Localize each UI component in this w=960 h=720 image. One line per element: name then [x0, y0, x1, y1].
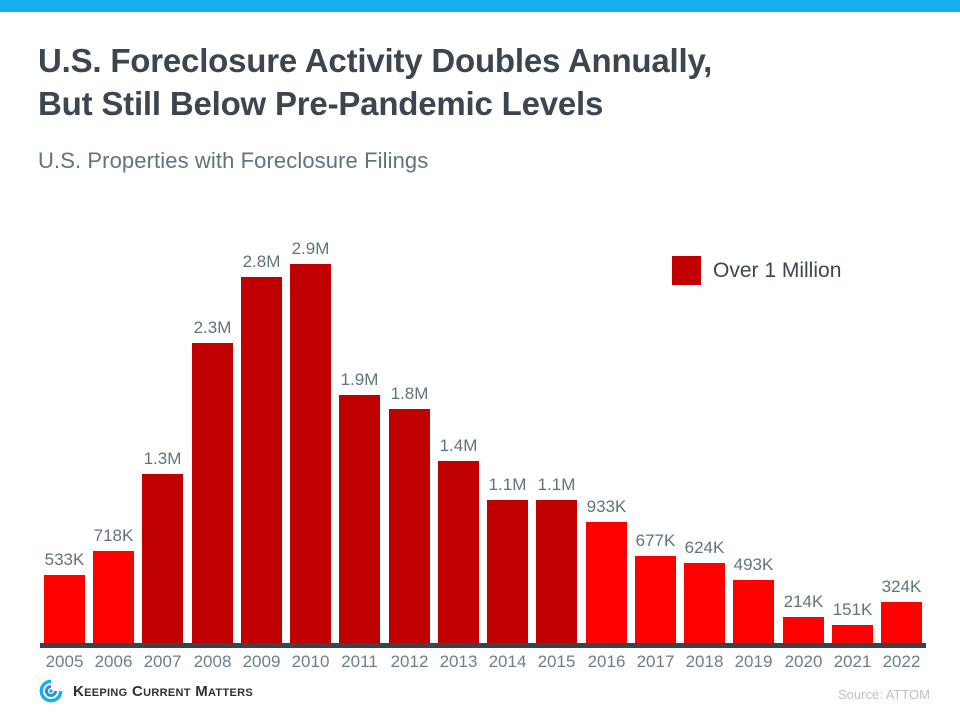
bar-value-label: 214K [784, 592, 824, 612]
x-tick-2009: 2009 [241, 652, 282, 672]
brand-name: Keeping Current Matters [73, 683, 253, 700]
spiral-logo-icon [38, 678, 64, 704]
bar-value-label: 1.1M [538, 475, 576, 495]
x-tick-2006: 2006 [93, 652, 134, 672]
bar-2007[interactable]: 1.3M [142, 220, 183, 645]
bar-rect[interactable] [192, 343, 233, 645]
bar-rect[interactable] [93, 551, 134, 645]
x-tick-2015: 2015 [536, 652, 577, 672]
bar-value-label: 718K [94, 526, 134, 546]
bar-2014[interactable]: 1.1M [487, 220, 528, 645]
bar-value-label: 624K [685, 538, 725, 558]
bar-rect[interactable] [586, 522, 627, 645]
chart-plot-area: 533K718K1.3M2.3M2.8M2.9M1.9M1.8M1.4M1.1M… [44, 220, 922, 645]
bar-rect[interactable] [487, 500, 528, 645]
bar-rect[interactable] [536, 500, 577, 645]
bar-2020[interactable]: 214K [783, 220, 824, 645]
x-tick-2019: 2019 [733, 652, 774, 672]
bar-value-label: 677K [636, 531, 676, 551]
x-tick-2020: 2020 [783, 652, 824, 672]
bar-value-label: 1.9M [341, 370, 379, 390]
bar-2022[interactable]: 324K [881, 220, 922, 645]
bar-rect[interactable] [635, 556, 676, 645]
bar-2018[interactable]: 624K [684, 220, 725, 645]
bar-2006[interactable]: 718K [93, 220, 134, 645]
bar-value-label: 1.8M [391, 384, 429, 404]
bar-2005[interactable]: 533K [44, 220, 85, 645]
bar-value-label: 1.4M [440, 436, 478, 456]
bar-rect[interactable] [733, 580, 774, 645]
bar-value-label: 324K [882, 577, 922, 597]
x-tick-2022: 2022 [881, 652, 922, 672]
bar-2021[interactable]: 151K [832, 220, 873, 645]
bar-2013[interactable]: 1.4M [438, 220, 479, 645]
x-tick-2014: 2014 [487, 652, 528, 672]
bar-value-label: 1.1M [489, 475, 527, 495]
bar-value-label: 151K [833, 600, 873, 620]
bar-rect[interactable] [783, 617, 824, 645]
x-tick-2010: 2010 [290, 652, 331, 672]
bar-rect[interactable] [241, 277, 282, 645]
bar-chart: 533K718K1.3M2.3M2.8M2.9M1.9M1.8M1.4M1.1M… [0, 0, 960, 720]
x-tick-2018: 2018 [684, 652, 725, 672]
x-tick-2013: 2013 [438, 652, 479, 672]
bar-value-label: 533K [45, 550, 85, 570]
x-tick-2017: 2017 [635, 652, 676, 672]
bar-value-label: 2.3M [194, 318, 232, 338]
brand-logo: Keeping Current Matters [38, 678, 253, 704]
x-tick-2021: 2021 [832, 652, 873, 672]
bar-rect[interactable] [881, 602, 922, 645]
x-axis-tick-labels: 2005200620072008200920102011201220132014… [44, 652, 922, 678]
source-attribution: Source: ATTOM [838, 687, 930, 702]
bar-value-label: 493K [734, 555, 774, 575]
bar-2010[interactable]: 2.9M [290, 220, 331, 645]
bar-rect[interactable] [142, 474, 183, 645]
x-tick-2007: 2007 [142, 652, 183, 672]
bar-rect[interactable] [290, 264, 331, 645]
bar-rect[interactable] [44, 575, 85, 645]
x-tick-2011: 2011 [339, 652, 380, 672]
bar-rect[interactable] [832, 625, 873, 645]
bar-2011[interactable]: 1.9M [339, 220, 380, 645]
bar-value-label: 933K [587, 497, 627, 517]
bar-value-label: 1.3M [144, 449, 182, 469]
bar-rect[interactable] [438, 461, 479, 645]
bar-2008[interactable]: 2.3M [192, 220, 233, 645]
x-axis-line [40, 643, 926, 648]
bar-2019[interactable]: 493K [733, 220, 774, 645]
x-tick-2016: 2016 [586, 652, 627, 672]
bar-2012[interactable]: 1.8M [389, 220, 430, 645]
bar-rect[interactable] [684, 563, 725, 645]
bar-2016[interactable]: 933K [586, 220, 627, 645]
x-tick-2012: 2012 [389, 652, 430, 672]
bar-rect[interactable] [339, 395, 380, 645]
x-tick-2008: 2008 [192, 652, 233, 672]
bar-value-label: 2.9M [292, 239, 330, 259]
x-tick-2005: 2005 [44, 652, 85, 672]
bar-2015[interactable]: 1.1M [536, 220, 577, 645]
bar-2017[interactable]: 677K [635, 220, 676, 645]
bar-value-label: 2.8M [243, 252, 281, 272]
bar-2009[interactable]: 2.8M [241, 220, 282, 645]
bar-rect[interactable] [389, 409, 430, 645]
